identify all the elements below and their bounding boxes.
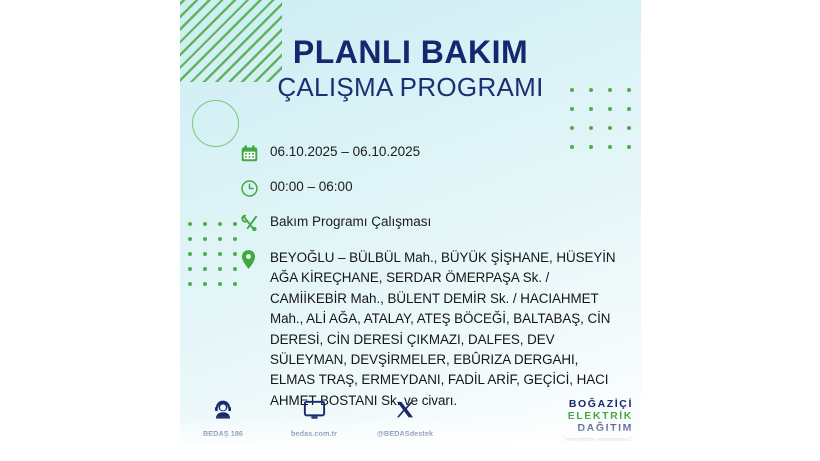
contact-social[interactable]: @BEDASdestek bbox=[374, 397, 436, 441]
poster-footer: BEDAŞ 186 bedas.com.tr bbox=[180, 397, 641, 453]
worktype-text: Bakım Programı Çalışması bbox=[270, 212, 431, 231]
detail-row-date: 06.10.2025 – 06.10.2025 bbox=[240, 142, 620, 164]
screenshot-canvas: PLANLI BAKIM ÇALIŞMA PROGRAMI bbox=[0, 0, 820, 461]
contact-website-label: bedas.com.tr bbox=[291, 429, 337, 438]
page-title: PLANLI BAKIM bbox=[180, 36, 641, 70]
calendar-icon bbox=[240, 142, 270, 164]
logo-line-dagitim: DAĞITIM bbox=[564, 423, 633, 435]
contact-phone-label: BEDAŞ 186 bbox=[203, 429, 243, 438]
x-twitter-icon bbox=[374, 397, 436, 423]
time-range-text: 00:00 – 06:00 bbox=[270, 177, 353, 196]
page-subtitle: ÇALIŞMA PROGRAMI bbox=[180, 72, 641, 103]
detail-row-address: BEYOĞLU – BÜLBÜL Mah., BÜYÜK ŞİŞHANE, HÜ… bbox=[240, 247, 620, 411]
circle-outline-decoration bbox=[192, 100, 239, 147]
contact-website[interactable]: bedas.com.tr bbox=[283, 397, 345, 441]
logo-line-elektrik: ELEKTRİK bbox=[564, 411, 633, 423]
location-pin-icon bbox=[240, 247, 270, 270]
support-agent-icon bbox=[192, 397, 254, 423]
planned-maintenance-poster: PLANLI BAKIM ÇALIŞMA PROGRAMI bbox=[180, 0, 641, 461]
bedas-logo: BOĞAZİÇİ ELEKTRİK DAĞITIM "enerjimizle y… bbox=[564, 399, 633, 444]
clock-icon bbox=[240, 177, 270, 199]
tools-icon bbox=[240, 212, 270, 234]
dot-grid-decoration-left bbox=[188, 222, 237, 286]
address-text: BEYOĞLU – BÜLBÜL Mah., BÜYÜK ŞİŞHANE, HÜ… bbox=[270, 247, 620, 411]
contact-channels: BEDAŞ 186 bedas.com.tr bbox=[192, 397, 436, 441]
logo-tagline: "enerjimizle yanınızdayız" bbox=[564, 437, 633, 443]
detail-row-worktype: Bakım Programı Çalışması bbox=[240, 212, 620, 234]
monitor-icon bbox=[283, 397, 345, 423]
contact-social-label: @BEDASdestek bbox=[377, 429, 433, 438]
detail-row-time: 00:00 – 06:00 bbox=[240, 177, 620, 199]
maintenance-details: 06.10.2025 – 06.10.2025 00:00 – 06:00 bbox=[240, 142, 620, 411]
poster-heading-block: PLANLI BAKIM ÇALIŞMA PROGRAMI bbox=[180, 36, 641, 103]
logo-line-bogazici: BOĞAZİÇİ bbox=[564, 399, 633, 411]
contact-phone[interactable]: BEDAŞ 186 bbox=[192, 397, 254, 441]
date-range-text: 06.10.2025 – 06.10.2025 bbox=[270, 142, 420, 161]
